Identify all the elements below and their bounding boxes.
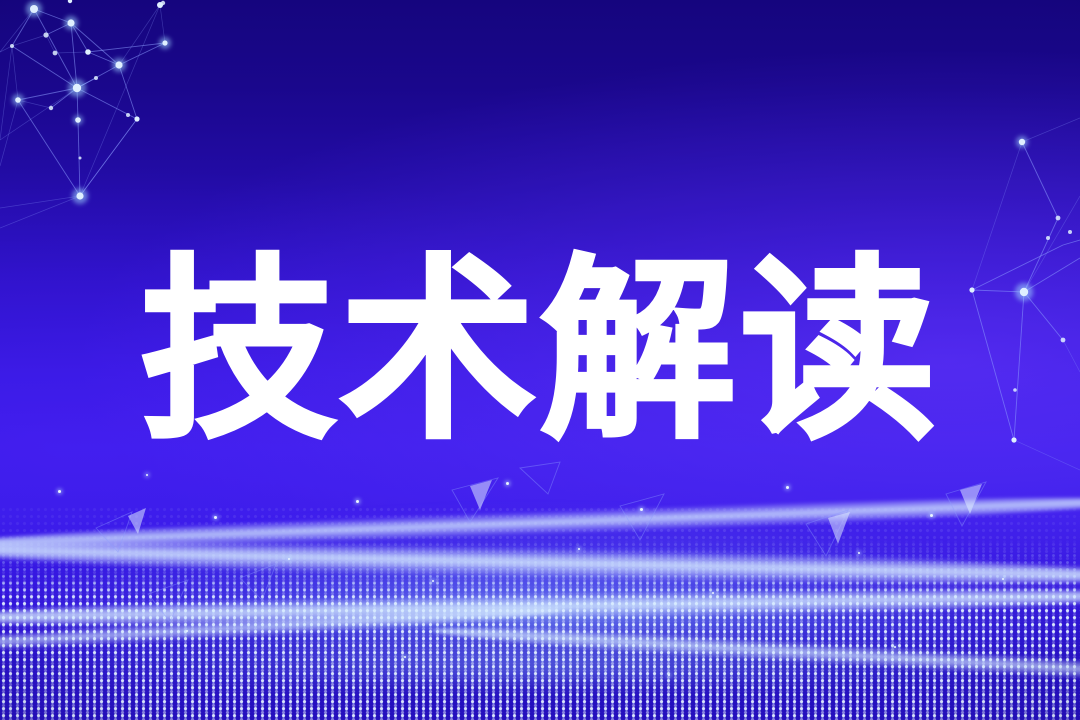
banner-canvas: 技术解读 bbox=[0, 0, 1080, 720]
particle-wave bbox=[0, 460, 1080, 720]
page-title: 技术解读 bbox=[0, 252, 1080, 452]
wave-shard-cluster bbox=[0, 460, 1080, 720]
